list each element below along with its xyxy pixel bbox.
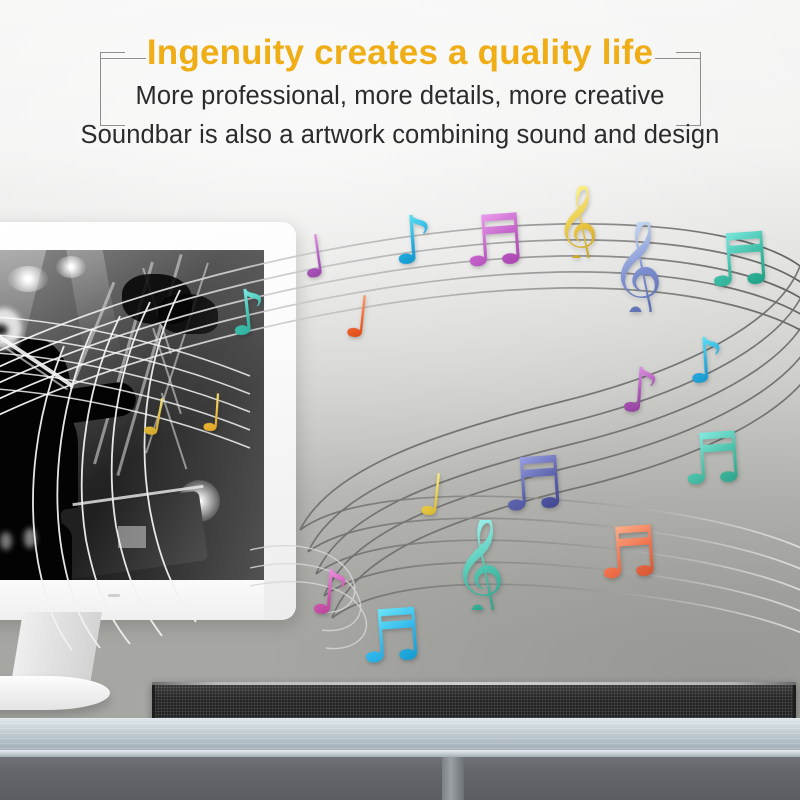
- headline-block: Ingenuity creates a quality life More pr…: [0, 0, 800, 170]
- table-grain: [0, 718, 800, 752]
- page-title: Ingenuity creates a quality life: [0, 33, 800, 73]
- table-front-panel: [0, 757, 800, 800]
- marketing-banner: ♩♪♩♪♬𝄞𝄞♬♩♩♪♪♬♩♬♬𝄞♪♬ Ingenuity creates a …: [0, 0, 800, 800]
- soundbar-gloss: [155, 685, 793, 699]
- page-subtitle: More professional, more details, more cr…: [0, 82, 800, 111]
- table-leg: [442, 757, 464, 800]
- soundbar-product: [152, 682, 796, 720]
- page-tagline: Soundbar is also a artwork combining sou…: [0, 121, 800, 150]
- music-staff-ribbons: [0, 170, 800, 710]
